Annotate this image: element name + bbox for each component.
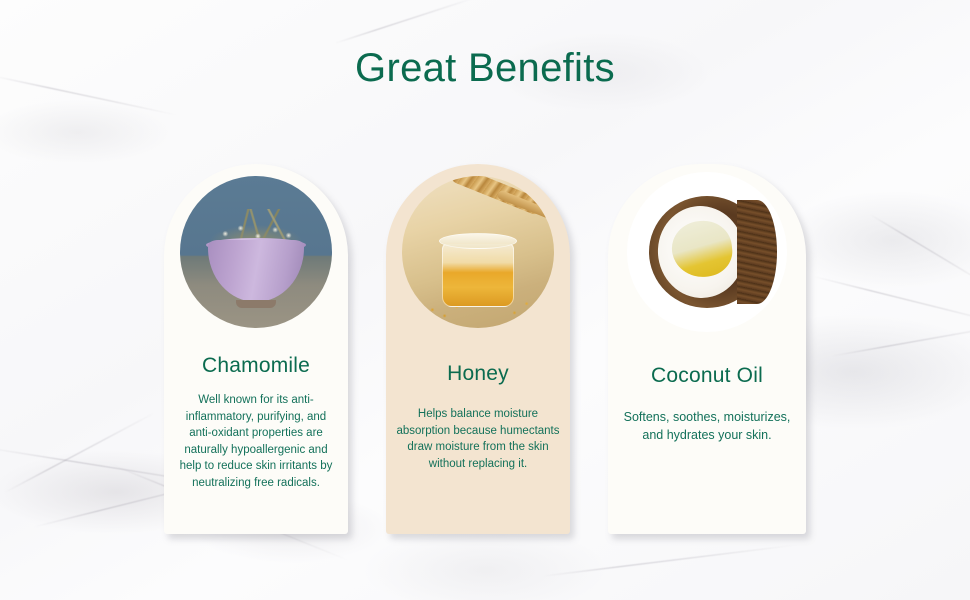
card-title-coconut-oil: Coconut Oil [651, 364, 763, 388]
lavender-bowl [208, 240, 304, 302]
honey-image [402, 176, 554, 328]
benefit-cards-row: Chamomile Well known for its anti-inflam… [0, 164, 970, 544]
coconut-husk-edge [737, 200, 777, 304]
coconut-image [627, 172, 787, 332]
jar-neck [439, 233, 517, 249]
card-body-honey: Helps balance moisture absorption becaus… [386, 406, 570, 472]
chamomile-image [180, 176, 332, 328]
card-title-chamomile: Chamomile [202, 354, 310, 378]
benefit-card-chamomile[interactable]: Chamomile Well known for its anti-inflam… [164, 164, 348, 534]
marble-vein [334, 0, 477, 44]
bowl-foot [236, 300, 276, 308]
card-title-honey: Honey [447, 362, 509, 386]
honey-jar [442, 243, 514, 307]
card-body-coconut-oil: Softens, soothes, moisturizes, and hydra… [608, 408, 806, 444]
marble-vein [541, 544, 799, 577]
benefit-card-honey[interactable]: Honey Helps balance moisture absorption … [386, 164, 570, 534]
page-title: Great Benefits [0, 46, 970, 91]
card-body-chamomile: Well known for its anti-inflammatory, pu… [164, 392, 348, 491]
benefit-card-coconut-oil[interactable]: Coconut Oil Softens, soothes, moisturize… [608, 164, 806, 534]
